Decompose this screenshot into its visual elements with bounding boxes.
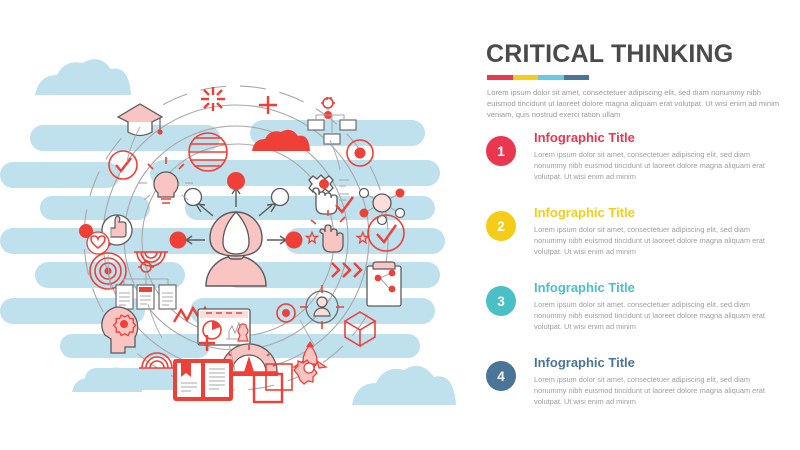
item-title-2: Infographic Title [534,205,784,221]
title-divider [487,75,589,80]
page-title: CRITICAL THINKING [486,40,733,69]
intro-paragraph: Lorem ipsum dolor sit amet, consectetuer… [487,88,783,120]
item-body-4: Infographic Title Lorem ipsum dolor sit … [534,355,784,407]
item-number-badge-4: 4 [486,361,516,391]
spark-burst-icon [201,87,225,111]
content-panel: CRITICAL THINKING Lorem ipsum dolor sit … [486,0,800,450]
item-text-4: Lorem ipsum dolor sit amet, consectetuer… [534,375,784,407]
open-book-icon [173,359,233,401]
divider-segment-2 [513,75,539,80]
item-body-3: Infographic Title Lorem ipsum dolor sit … [534,280,784,332]
infographic-items-list: 1 Infographic Title Lorem ipsum dolor si… [486,130,800,430]
list-item[interactable]: 4 Infographic Title Lorem ipsum dolor si… [486,355,800,430]
list-item[interactable]: 2 Infographic Title Lorem ipsum dolor si… [486,205,800,280]
item-body-1: Infographic Title Lorem ipsum dolor sit … [534,130,784,182]
item-text-2: Lorem ipsum dolor sit amet, consectetuer… [534,225,784,257]
divider-segment-3 [538,75,564,80]
critical-thinking-illustration: .ln{fill:none;stroke:#a8a8a8;stroke-widt… [0,0,470,450]
list-item[interactable]: 3 Infographic Title Lorem ipsum dolor si… [486,280,800,355]
list-item[interactable]: 1 Infographic Title Lorem ipsum dolor si… [486,130,800,205]
divider-segment-1 [487,75,513,80]
clipboard-share-icon [367,262,401,306]
item-number-badge-1: 1 [486,136,516,166]
item-title-4: Infographic Title [534,355,784,371]
cloud-shape-top-left [35,59,131,95]
item-body-2: Infographic Title Lorem ipsum dolor sit … [534,205,784,257]
item-text-3: Lorem ipsum dolor sit amet, consectetuer… [534,300,784,332]
divider-segment-4 [564,75,590,80]
item-number-badge-2: 2 [486,211,516,241]
item-number-badge-3: 3 [486,286,516,316]
item-title-1: Infographic Title [534,130,784,146]
item-title-3: Infographic Title [534,280,784,296]
infographic-canvas: .ln{fill:none;stroke:#a8a8a8;stroke-widt… [0,0,800,450]
plus-icon [259,96,277,114]
item-text-1: Lorem ipsum dolor sit amet, consectetuer… [534,150,784,182]
striped-globe-icon [189,133,227,171]
cloud-shape-bottom-right [352,366,456,405]
